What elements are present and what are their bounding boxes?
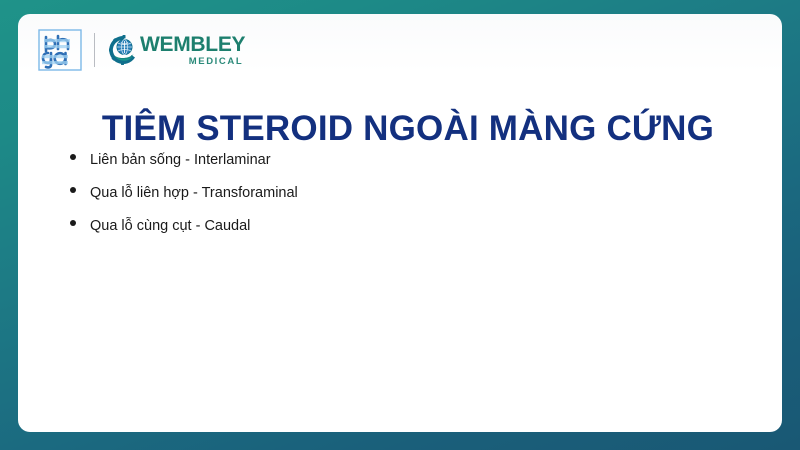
slide-card: WEMBLEY MEDICAL TIÊM STEROID NGOÀI MÀNG … — [18, 14, 782, 432]
bullet-dot-icon — [70, 187, 76, 193]
list-item: Qua lỗ cùng cụt - Caudal — [70, 218, 710, 251]
list-item: Liên bản sống - Interlaminar — [70, 152, 710, 185]
presentation-slide: WEMBLEY MEDICAL TIÊM STEROID NGOÀI MÀNG … — [0, 0, 800, 450]
list-item-label: Liên bản sống - Interlaminar — [90, 152, 271, 169]
wembley-medical-logo: WEMBLEY MEDICAL — [109, 34, 245, 67]
bullet-list: Liên bản sống - Interlaminar Qua lỗ liên… — [70, 152, 710, 251]
list-item-label: Qua lỗ cùng cụt - Caudal — [90, 218, 250, 235]
slide-title: TIÊM STEROID NGOÀI MÀNG CỨNG — [58, 109, 758, 149]
list-item: Qua lỗ liên hợp - Transforaminal — [70, 185, 710, 218]
bhga-monogram-logo — [38, 29, 82, 71]
list-item-label: Qua lỗ liên hợp - Transforaminal — [90, 185, 298, 202]
bullet-dot-icon — [70, 220, 76, 226]
wembley-brand-subtitle: MEDICAL — [189, 57, 245, 67]
wembley-brand-name: WEMBLEY — [140, 34, 245, 55]
bullet-dot-icon — [70, 154, 76, 160]
wembley-wordmark: WEMBLEY MEDICAL — [140, 34, 245, 67]
logo-bar: WEMBLEY MEDICAL — [38, 26, 245, 74]
wembley-globe-gear-emblem — [109, 35, 139, 65]
logo-divider — [94, 33, 95, 67]
